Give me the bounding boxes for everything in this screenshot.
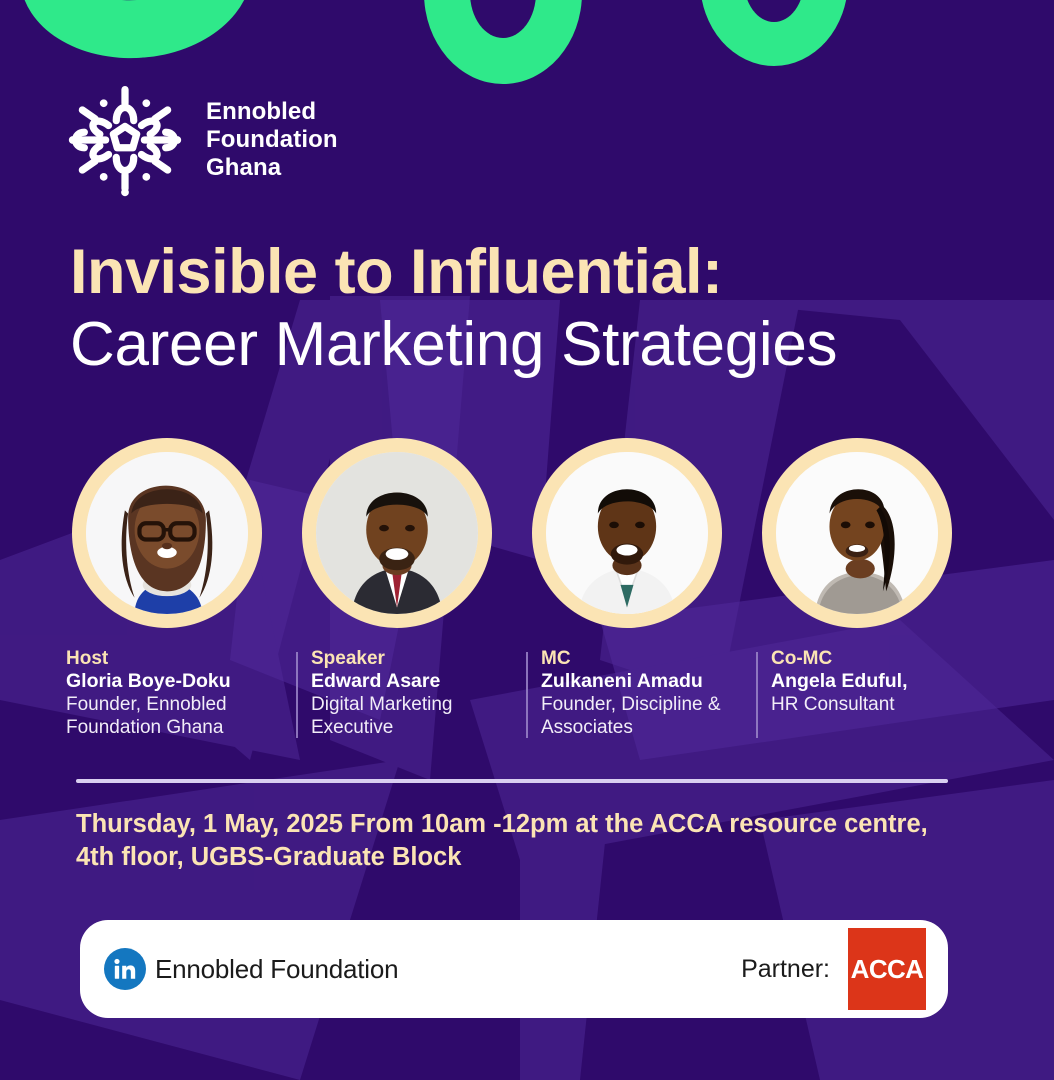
partner-group: Partner: ACCA — [741, 928, 926, 1010]
avatar-ring — [72, 438, 262, 628]
brand-wordmark: Ennobled Foundation Ghana — [206, 98, 338, 181]
footer-bar: Ennobled Foundation Partner: ACCA — [80, 920, 948, 1018]
brand-line-2: Foundation — [206, 126, 338, 154]
speaker-info-2: MC Zulkaneni Amadu Founder, Discipline &… — [526, 648, 756, 739]
event-flyer: Ennobled Foundation Ghana Invisible to I… — [0, 0, 1054, 1080]
event-details-line-1: Thursday, 1 May, 2025 From 10am -12pm at… — [76, 808, 976, 841]
linkedin-handle-group[interactable]: Ennobled Foundation — [104, 948, 398, 990]
speaker-title-line-2: Foundation Ghana — [66, 717, 280, 740]
green-horseshoe-3 — [700, 0, 848, 66]
brand-logo: Ennobled Foundation Ghana — [62, 78, 338, 202]
linkedin-handle-label: Ennobled Foundation — [155, 954, 398, 985]
speaker-title-line-1: HR Consultant — [771, 694, 970, 717]
event-details: Thursday, 1 May, 2025 From 10am -12pm at… — [76, 808, 976, 874]
avatar-ring — [302, 438, 492, 628]
speaker-name: Edward Asare — [311, 670, 510, 693]
avatar-ring — [762, 438, 952, 628]
event-details-line-2: 4th floor, UGBS-Graduate Block — [76, 841, 976, 874]
speaker-info-3: Co-MC Angela Eduful, HR Consultant — [756, 648, 986, 739]
acca-logo-text: ACCA — [851, 954, 924, 985]
linkedin-icon[interactable] — [104, 948, 146, 990]
portrait-zulkaneni-amadu — [546, 452, 708, 614]
avatar — [316, 452, 478, 614]
avatar — [776, 452, 938, 614]
speaker-role: Host — [66, 648, 280, 670]
speaker-portrait-row — [66, 438, 988, 628]
headline-secondary: Career Marketing Strategies — [70, 312, 1030, 378]
acca-logo: ACCA — [848, 928, 926, 1010]
brand-line-3: Ghana — [206, 154, 338, 182]
avatar — [86, 452, 248, 614]
speaker-portrait-2 — [526, 438, 756, 628]
speaker-portrait-3 — [756, 438, 986, 628]
speaker-role: MC — [541, 648, 740, 670]
portrait-edward-asare — [316, 452, 478, 614]
speaker-title-line-1: Founder, Discipline & — [541, 694, 740, 717]
speaker-portrait-0 — [66, 438, 296, 628]
speaker-role: Co-MC — [771, 648, 970, 670]
avatar — [546, 452, 708, 614]
avatar-ring — [532, 438, 722, 628]
speaker-portrait-1 — [296, 438, 526, 628]
portrait-gloria-boye-doku — [86, 452, 248, 614]
headline-primary: Invisible to Influential: — [70, 240, 1030, 304]
green-horseshoe-1 — [14, 0, 257, 66]
speaker-name-row: Host Gloria Boye-Doku Founder, Ennobled … — [66, 648, 996, 739]
speaker-info-1: Speaker Edward Asare Digital Marketing E… — [296, 648, 526, 739]
speaker-title-line-1: Founder, Ennobled — [66, 694, 280, 717]
speaker-title-line-2: Associates — [541, 717, 740, 740]
page-title: Invisible to Influential: Career Marketi… — [70, 240, 1030, 378]
brand-line-1: Ennobled — [206, 98, 338, 126]
ennobled-snowflake-mark — [62, 78, 188, 202]
portrait-angela-eduful — [776, 452, 938, 614]
speaker-name: Zulkaneni Amadu — [541, 670, 740, 693]
speaker-role: Speaker — [311, 648, 510, 670]
speaker-name: Angela Eduful, — [771, 670, 970, 693]
speaker-title-line-2: Executive — [311, 717, 510, 740]
green-horseshoe-2 — [424, 0, 582, 84]
horizontal-divider — [76, 779, 948, 783]
partner-label: Partner: — [741, 955, 830, 984]
speaker-name: Gloria Boye-Doku — [66, 670, 280, 693]
speaker-title-line-1: Digital Marketing — [311, 694, 510, 717]
speaker-info-0: Host Gloria Boye-Doku Founder, Ennobled … — [66, 648, 296, 739]
